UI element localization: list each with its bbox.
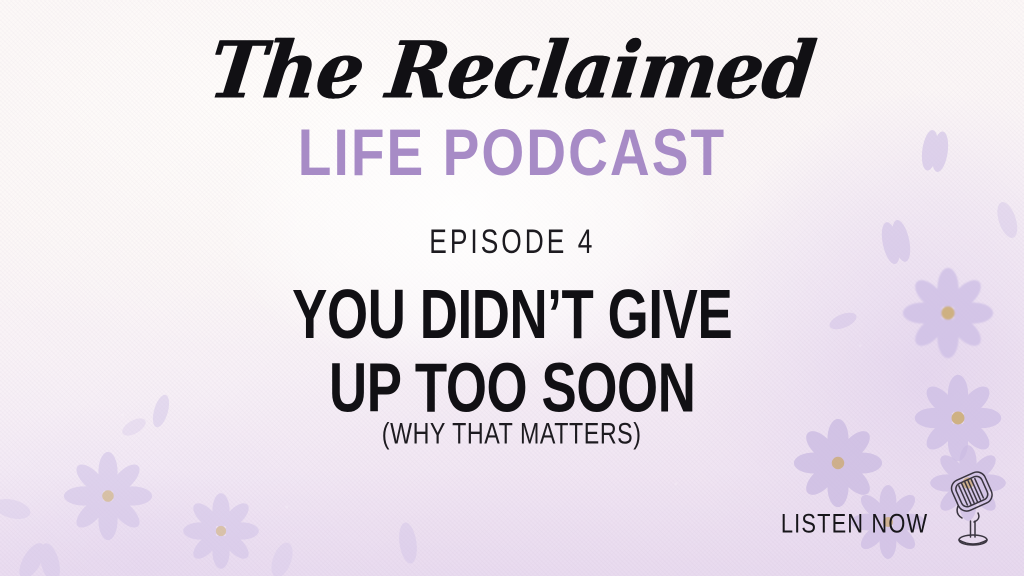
episode-subtitle: (WHY THAT MATTERS) [382, 420, 642, 450]
retro-microphone-icon[interactable] [944, 466, 1000, 552]
listen-now-label[interactable]: LISTEN NOW [781, 510, 928, 537]
episode-title-line-2: UP TOO SOON [292, 352, 732, 423]
listen-now-group[interactable]: LISTEN NOW [777, 466, 1000, 552]
podcast-cover-canvas: The Reclaimed LIFE PODCAST EPISODE 4 YOU… [0, 0, 1024, 576]
brand-block-title: LIFE PODCAST [298, 120, 726, 186]
episode-number-label: EPISODE 4 [429, 225, 595, 259]
episode-title-line-1: YOU DIDN’T GIVE [292, 279, 732, 350]
episode-title: YOU DIDN’T GIVE UP TOO SOON [292, 279, 732, 423]
brand-script-title: The Reclaimed [205, 32, 818, 110]
